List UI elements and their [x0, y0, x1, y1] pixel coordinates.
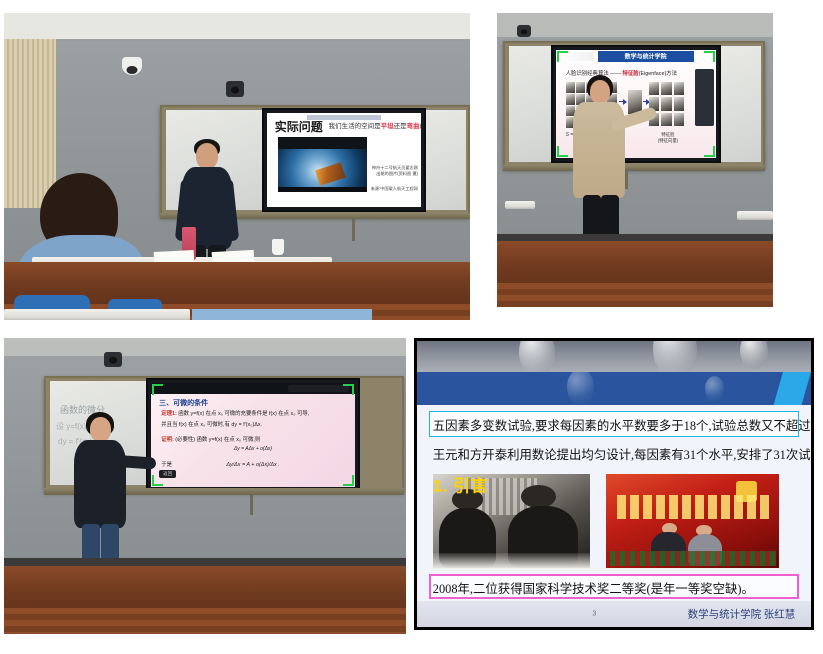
- department-banner-label: 数学与统计学院: [625, 52, 667, 61]
- photo-collage: 实际问题 我们生活的空间是平坦还是弯曲的? 神舟十二号航天员翟志刚 出舱的图片(…: [0, 0, 823, 654]
- slide-caption-line-3: 来源:中国载人航天工程网: [366, 186, 418, 191]
- slide-toolbar: [288, 385, 349, 392]
- highlight-text-bottom: 2008年,二位获得国家科学技术奖二等奖(是年一等奖空缺)。: [433, 579, 799, 597]
- formula-2: Δy/Δx = A + o(Δx)/Δx .: [151, 462, 355, 468]
- eigenface-caption: 特征脸 (特征向量): [649, 132, 687, 144]
- slide-footer: 3 数学与统计学院 张红慧: [417, 601, 811, 627]
- theorem-text-2: 并且当 f(x) 在点 x₀ 可微时,有 dy = f′(x₀)Δx.: [161, 420, 262, 428]
- page-number: 3: [592, 611, 596, 618]
- spacecraft-shape: [315, 162, 346, 186]
- theorem-text: 函数 y=f(x) 在点 x₀ 可微的充要条件是 f(x) 在点 x₀ 可导,: [178, 411, 309, 417]
- subtitle-part-4: 弯曲: [407, 123, 420, 130]
- subtitle-part-1: 我们生活的空间是: [329, 123, 381, 130]
- slide-subtitle: 我们生活的空间是平坦还是弯曲的?: [329, 123, 421, 130]
- photo-top-right[interactable]: 数学与统计学院 人脸识别经典算法 —— 特征脸(Eigenface)方法: [497, 13, 773, 307]
- award-ceremony-red-banner-photo: [606, 474, 779, 568]
- slide-caption-line-2: 出舱的图片(资料图 摄): [366, 171, 418, 176]
- ptz-camera-icon: [104, 352, 122, 367]
- photo-bottom-left[interactable]: 函数的微分 设 y=f(x) dy = f′(x₀)Δx 三、可微的条件 定理1…: [4, 338, 406, 634]
- ptz-camera-icon: [517, 25, 531, 37]
- photo-top-left[interactable]: 实际问题 我们生活的空间是平坦还是弯曲的? 神舟十二号航天员翟志刚 出舱的图片(…: [4, 13, 470, 320]
- caption-line-2: (特征向量): [649, 138, 687, 144]
- classroom-display-screen: 三、可微的条件 定理1: 函数 y=f(x) 在点 x₀ 可微的充要条件是 f(…: [146, 378, 360, 492]
- ptz-camera-icon: [226, 81, 244, 97]
- banner-text-blurred: [617, 495, 770, 519]
- footer-affiliation: 数学与统计学院 张红慧: [688, 607, 796, 622]
- slide-title: 1. 引言: [433, 472, 488, 497]
- slide-title-part-3: (Eigenface)方法: [639, 71, 677, 77]
- formula-1: Δy = AΔx + o(Δx): [151, 446, 355, 452]
- slide-caption-line-1: 神舟十二号航天员翟志刚: [366, 165, 418, 170]
- slide-toolbar: [695, 69, 714, 125]
- dome-camera-icon: [122, 57, 142, 75]
- earth-from-space-image: [278, 137, 367, 192]
- proof-label: 证明:: [161, 437, 174, 443]
- slide-top-strip: [417, 341, 811, 372]
- department-banner: 数学与统计学院: [598, 51, 694, 61]
- theorem-label: 定理1:: [161, 411, 177, 417]
- highlight-text-top: 五因素多变数试验,要求每因素的水平数要多于18个,试验总数又不超过50。: [433, 416, 799, 434]
- paper-cup: [272, 239, 284, 255]
- classroom-display-screen: 实际问题 我们生活的空间是平坦还是弯曲的? 神舟十二号航天员翟志刚 出舱的图片(…: [262, 108, 426, 212]
- slide-heading: 三、可微的条件: [159, 398, 208, 408]
- presentation-slide-bottom-right[interactable]: 1. 引言 五因素多变数试验,要求每因素的水平数要多于18个,试验总数又不超过5…: [414, 338, 814, 630]
- subtitle-part-2: 平坦: [381, 123, 394, 130]
- slide-differentiability-conditions: 三、可微的条件 定理1: 函数 y=f(x) 在点 x₀ 可微的充要条件是 f(…: [151, 383, 355, 487]
- subtitle-part-5: 的?: [420, 123, 421, 130]
- body-line: 王元和方开泰利用数论提出均匀设计,每因素有31个水平,安排了31次试验。: [433, 445, 799, 463]
- slide-body: 五因素多变数试验,要求每因素的水平数要多于18个,试验总数又不超过50。 王元和…: [417, 405, 811, 601]
- subtitle-part-3: 还是: [394, 123, 407, 130]
- slide-title-band: [417, 372, 811, 405]
- slide-title: 实际问题: [275, 121, 323, 133]
- eigenface-grid: [649, 82, 684, 125]
- slide-real-world-problem: 实际问题 我们生活的空间是平坦还是弯曲的? 神舟十二号航天员翟志刚 出舱的图片(…: [267, 113, 421, 207]
- proof-text: (必要性) 函数 y=f(x) 在点 x₀ 可微,则: [175, 437, 260, 443]
